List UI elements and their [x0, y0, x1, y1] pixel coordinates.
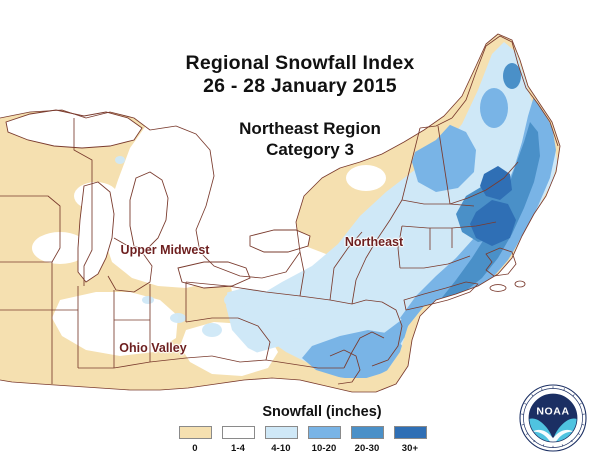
legend-item-30-plus: 30+ — [393, 426, 427, 454]
legend-item-20-30: 20-30 — [350, 426, 384, 454]
legend-item-4-10: 4-10 — [264, 426, 298, 454]
region-label-northeast: Northeast — [326, 235, 422, 250]
snowfall-map-figure: Regional Snowfall Index 26 - 28 January … — [0, 0, 600, 464]
region-label-upper-midwest: Upper Midwest — [115, 243, 215, 258]
noaa-logo: NOAA — [514, 378, 592, 458]
legend-chip-20-30 — [351, 426, 384, 439]
title-line-2: 26 - 28 January 2015 — [70, 75, 530, 98]
legend-label-20-30: 20-30 — [355, 443, 380, 454]
page-subtitle: Northeast Region Category 3 — [110, 118, 510, 160]
legend-item-0: 0 — [178, 426, 212, 454]
legend-chip-0 — [179, 426, 212, 439]
legend-title: Snowfall (inches) — [158, 404, 448, 420]
legend-label-30-plus: 30+ — [402, 443, 418, 454]
legend-chip-30-plus — [394, 426, 427, 439]
legend-label-10-20: 10-20 — [312, 443, 337, 454]
noaa-seal-icon: NOAA — [514, 378, 592, 458]
legend-chip-10-20 — [308, 426, 341, 439]
region-label-ohio-valley: Ohio Valley — [93, 341, 213, 356]
title-line-1: Regional Snowfall Index — [186, 52, 415, 74]
legend: Snowfall (inches) 0 1-4 4-10 10-20 20-30 — [158, 404, 448, 454]
noaa-wordmark: NOAA — [536, 406, 569, 418]
legend-item-1-4: 1-4 — [221, 426, 255, 454]
legend-label-0: 0 — [192, 443, 197, 454]
subtitle-line-1: Northeast Region — [239, 119, 381, 138]
legend-swatch-row: 0 1-4 4-10 10-20 20-30 30+ — [158, 426, 448, 454]
page-title: Regional Snowfall Index 26 - 28 January … — [70, 52, 530, 98]
legend-chip-4-10 — [265, 426, 298, 439]
legend-label-4-10: 4-10 — [271, 443, 290, 454]
legend-chip-1-4 — [222, 426, 255, 439]
legend-item-10-20: 10-20 — [307, 426, 341, 454]
subtitle-line-2: Category 3 — [110, 139, 510, 160]
legend-label-1-4: 1-4 — [231, 443, 245, 454]
